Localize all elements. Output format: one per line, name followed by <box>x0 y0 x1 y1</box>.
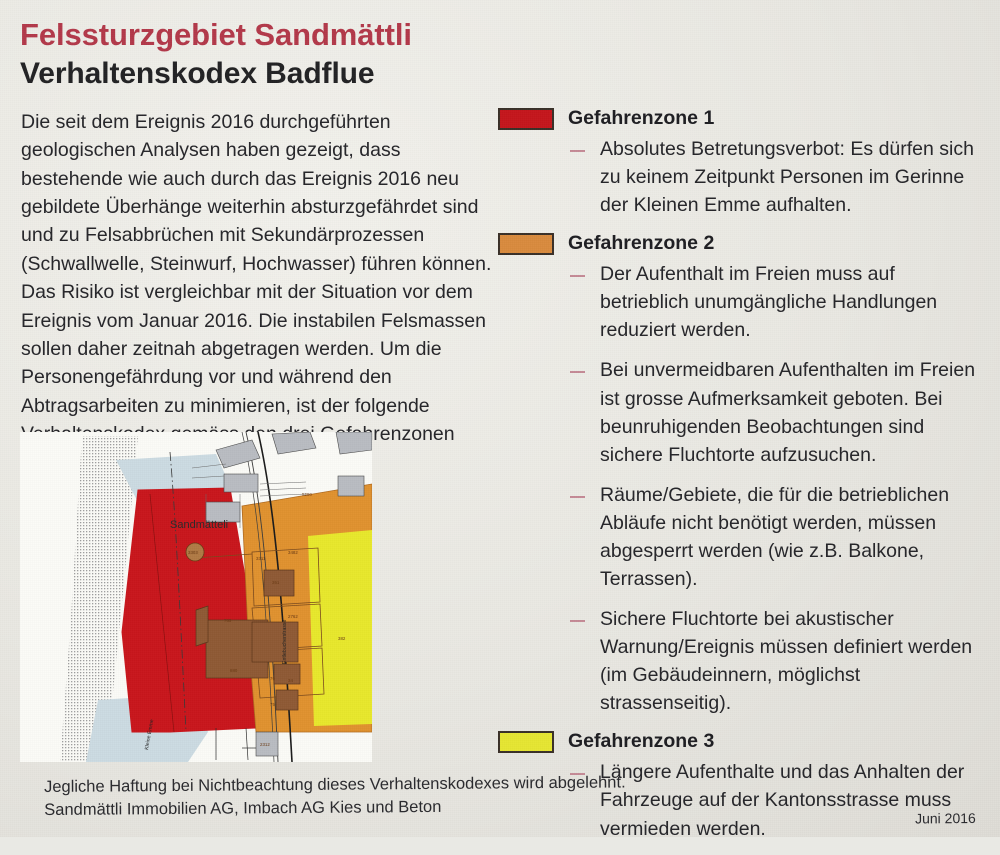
list-item: Bei unvermeidbaren Aufenthalten im Freie… <box>568 356 986 468</box>
map-place-label: Sandmätteli <box>170 519 228 531</box>
zone-header-1: Gefahrenzone 1 <box>498 106 986 132</box>
page-title: Felssturzgebiet Sandmättli <box>20 18 660 53</box>
footer-disclaimer: Jegliche Haftung bei Nichtbeachtung dies… <box>44 770 804 821</box>
map-parcel-number: 75 <box>270 702 275 707</box>
zone-2-color-swatch <box>498 233 554 255</box>
map-parcel-number: 382 <box>338 636 346 641</box>
zone-header-2: Gefahrenzone 2 <box>498 231 986 257</box>
intro-paragraph: Die seit dem Ereignis 2016 durchgeführte… <box>21 108 496 477</box>
map-parcel-number: 3303 <box>188 550 198 555</box>
bullet-text: Der Aufenthalt im Freien muss auf betrie… <box>600 263 937 341</box>
map-parcel-number: 76 <box>270 676 275 681</box>
poster-board: Felssturzgebiet Sandmättli Verhaltenskod… <box>0 0 1000 837</box>
zone-1-bullets: Absolutes Betretungsverbot: Es dürfen si… <box>498 135 986 219</box>
bullet-text: Absolutes Betretungsverbot: Es dürfen si… <box>600 138 974 216</box>
map-parcel-number: 880 <box>230 668 238 673</box>
list-item: Räume/Gebiete, die für die betrieblichen… <box>568 481 986 593</box>
dash-bullet-icon <box>570 150 585 152</box>
zone-2-bullets: Der Aufenthalt im Freien muss auf betrie… <box>498 260 986 717</box>
dash-bullet-icon <box>570 371 585 373</box>
map-svg: Sandmätteli 5290 Entlebucherstrasse 3303… <box>20 432 372 762</box>
bullet-text: Räume/Gebiete, die für die betrieblichen… <box>600 484 949 590</box>
dash-bullet-icon <box>570 496 585 498</box>
map-zone-3-area <box>308 530 372 726</box>
map-point-label: 5290 <box>302 492 312 497</box>
list-item: Sichere Fluchtorte bei akustischer Warnu… <box>568 605 986 717</box>
list-item: Absolutes Betretungsverbot: Es dürfen si… <box>568 135 986 219</box>
dash-bullet-icon <box>570 275 585 277</box>
hazard-zones-legend: Gefahrenzone 1 Absolutes Betretungsverbo… <box>498 106 986 855</box>
zone-3-title: Gefahrenzone 3 <box>568 729 986 753</box>
map-road-label: Entlebucherstrasse <box>282 619 288 664</box>
bullet-text: Sichere Fluchtorte bei akustischer Warnu… <box>600 608 972 714</box>
map-parcel-number: 3311 <box>256 556 266 561</box>
map-parcel-number: 34 <box>288 678 293 683</box>
title-block: Felssturzgebiet Sandmättli Verhaltenskod… <box>20 18 660 90</box>
zone-1-color-swatch <box>498 108 554 130</box>
date-stamp: Juni 2016 <box>915 810 976 826</box>
page-subtitle: Verhaltenskodex Badflue <box>20 57 660 91</box>
zone-3-color-swatch <box>498 731 554 753</box>
dash-bullet-icon <box>570 620 585 622</box>
map-parcel-number: 3482 <box>288 550 298 555</box>
zone-1-title: Gefahrenzone 1 <box>568 106 986 130</box>
map-parcel-number: 351 <box>272 580 280 585</box>
hazard-zone-map: Sandmätteli 5290 Entlebucherstrasse 3303… <box>20 432 372 762</box>
zone-2-title: Gefahrenzone 2 <box>568 231 986 255</box>
map-parcel-number: 765 <box>224 618 232 623</box>
zone-header-3: Gefahrenzone 3 <box>498 729 986 755</box>
zone-block-1: Gefahrenzone 1 Absolutes Betretungsverbo… <box>498 106 986 219</box>
bullet-text: Bei unvermeidbaren Aufenthalten im Freie… <box>600 359 975 465</box>
map-parcel-number: 2762 <box>288 614 298 619</box>
map-parcel-number: 2312 <box>260 742 270 747</box>
list-item: Der Aufenthalt im Freien muss auf betrie… <box>568 260 986 344</box>
zone-block-2: Gefahrenzone 2 Der Aufenthalt im Freien … <box>498 231 986 717</box>
